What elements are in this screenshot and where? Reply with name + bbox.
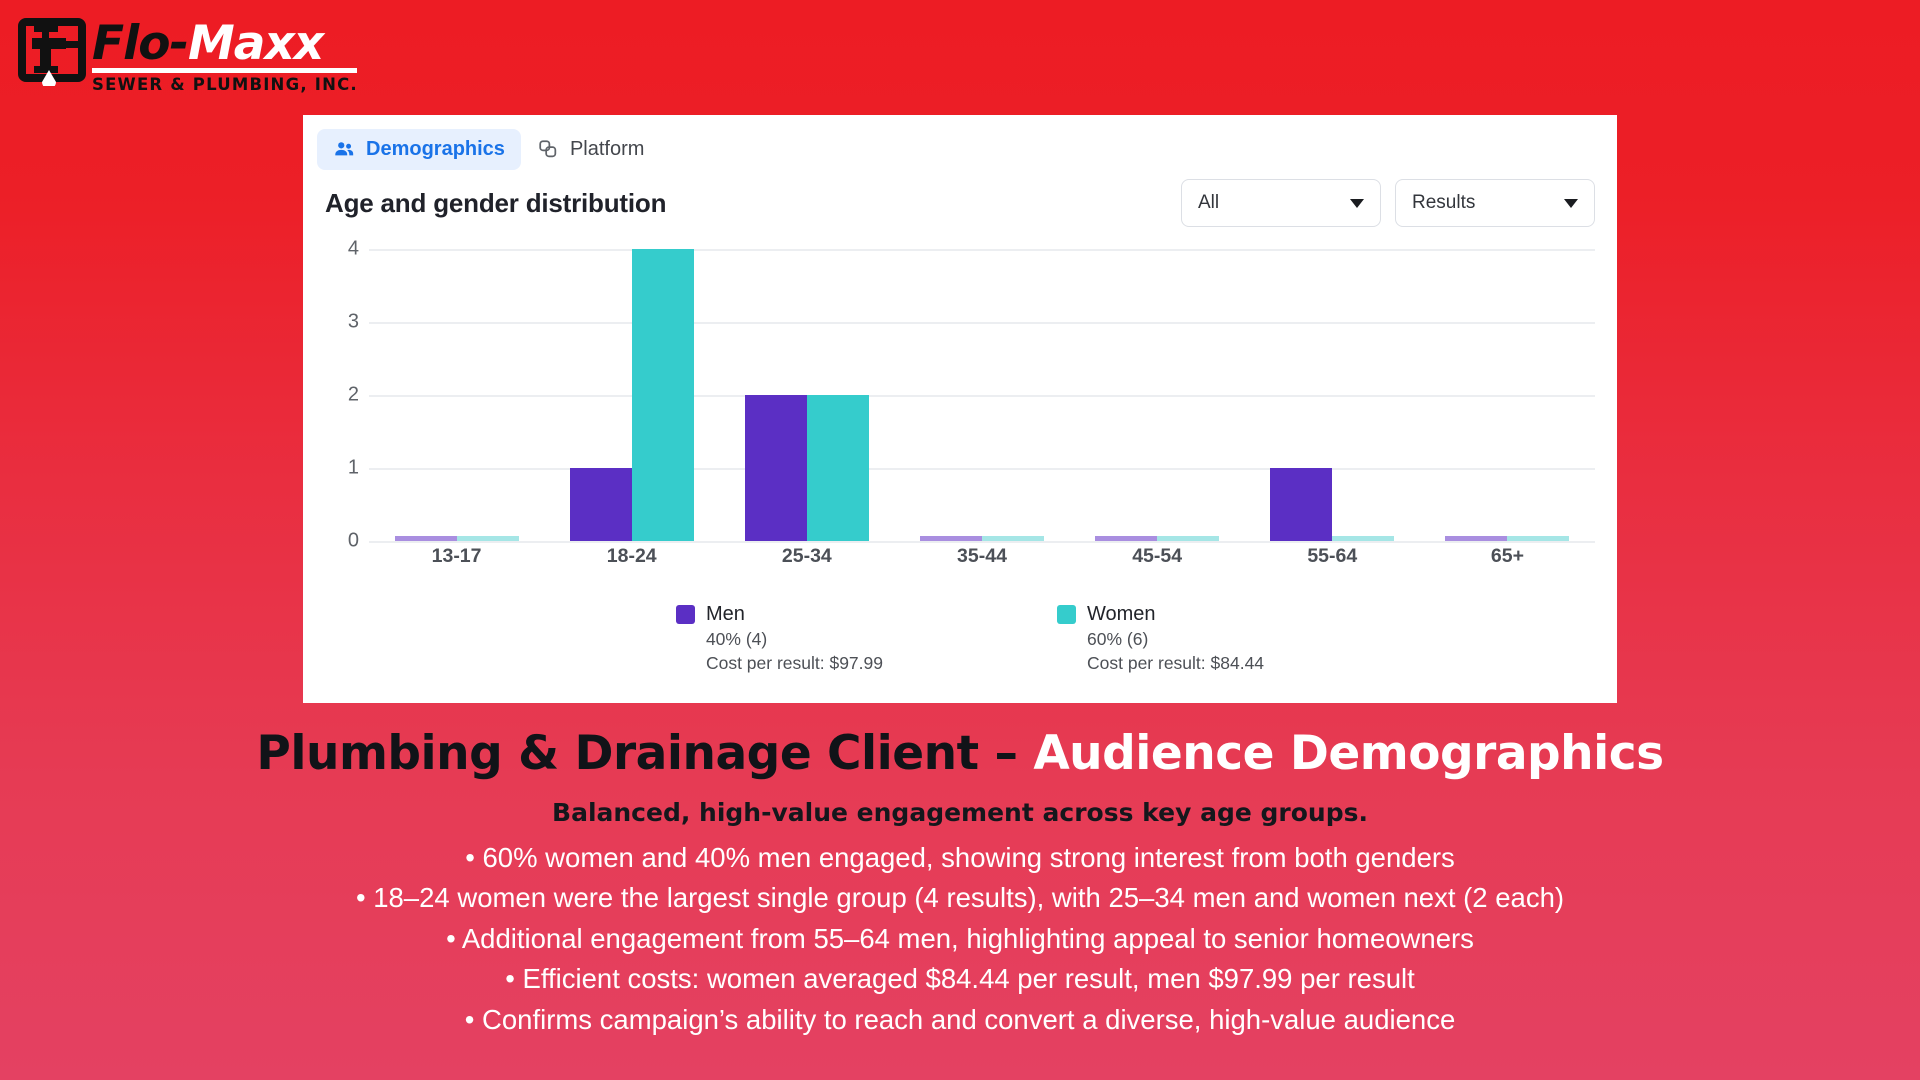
chevron-down-icon xyxy=(1350,199,1364,208)
breakdown-filter-dropdown[interactable]: All xyxy=(1181,179,1381,227)
bar-group xyxy=(544,249,719,541)
legend-swatch xyxy=(676,605,695,624)
page-subtitle: Balanced, high-value engagement across k… xyxy=(0,798,1920,827)
bar-women-55-64[interactable] xyxy=(1332,536,1394,541)
demographics-card: Demographics Platform Age and gender dis… xyxy=(303,115,1617,703)
x-axis-tick: 35-44 xyxy=(894,545,1069,568)
y-axis-tick: 2 xyxy=(348,384,359,407)
bar-group xyxy=(1245,249,1420,541)
page-title-accent: Audience Demographics xyxy=(1033,726,1663,781)
tab-platform-label: Platform xyxy=(570,138,644,161)
chart-legend: Men40% (4)Cost per result: $97.99Women60… xyxy=(303,601,1617,675)
bullet-item: • 18–24 women were the largest single gr… xyxy=(0,878,1920,918)
tab-demographics[interactable]: Demographics xyxy=(317,129,521,170)
chart-title: Age and gender distribution xyxy=(325,188,666,219)
legend-text: Men40% (4)Cost per result: $97.99 xyxy=(706,601,883,675)
y-axis-tick: 0 xyxy=(348,530,359,553)
x-axis-tick: 55-64 xyxy=(1245,545,1420,568)
bar-chart-plot: 01234 13-1718-2425-3435-4445-5455-6465+ xyxy=(325,249,1595,579)
legend-cost-per-result: Cost per result: $97.99 xyxy=(706,652,883,676)
bar-men-45-54[interactable] xyxy=(1095,536,1157,541)
x-axis-tick: 65+ xyxy=(1420,545,1595,568)
chart-controls: All Results xyxy=(1181,179,1595,227)
bar-group xyxy=(369,249,544,541)
page-title: Plumbing & Drainage Client – Audience De… xyxy=(0,726,1920,781)
bar-women-65+[interactable] xyxy=(1507,536,1569,541)
x-axis-labels: 13-1718-2425-3435-4445-5455-6465+ xyxy=(369,545,1595,568)
tab-bar: Demographics Platform xyxy=(303,115,1617,171)
brand-tagline: SEWER & PLUMBING, INC. xyxy=(92,75,358,94)
legend-series-name: Men xyxy=(706,601,883,628)
bar-women-13-17[interactable] xyxy=(457,536,519,541)
bar-women-45-54[interactable] xyxy=(1157,536,1219,541)
legend-text: Women60% (6)Cost per result: $84.44 xyxy=(1087,601,1264,675)
bar-men-18-24[interactable] xyxy=(570,468,632,541)
faucet-pipe-droplet-icon xyxy=(18,14,86,86)
bar-men-65+[interactable] xyxy=(1445,536,1507,541)
legend-item-men[interactable]: Men40% (4)Cost per result: $97.99 xyxy=(676,601,883,675)
bar-women-18-24[interactable] xyxy=(632,249,694,541)
bar-men-35-44[interactable] xyxy=(920,536,982,541)
bar-women-25-34[interactable] xyxy=(807,395,869,541)
bar-women-35-44[interactable] xyxy=(982,536,1044,541)
bar-men-25-34[interactable] xyxy=(745,395,807,541)
brand-logo: Flo-Maxx SEWER & PLUMBING, INC. xyxy=(18,14,358,94)
legend-swatch xyxy=(1057,605,1076,624)
y-axis-tick: 4 xyxy=(348,238,359,261)
chart-header: Age and gender distribution All Results xyxy=(303,171,1617,227)
bullet-item: • 60% women and 40% men engaged, showing… xyxy=(0,838,1920,878)
breakdown-filter-value: All xyxy=(1198,192,1219,214)
y-axis-tick: 3 xyxy=(348,311,359,334)
bar-group xyxy=(1420,249,1595,541)
bullet-item: • Efficient costs: women averaged $84.44… xyxy=(0,959,1920,999)
y-axis-tick: 1 xyxy=(348,457,359,480)
legend-item-women[interactable]: Women60% (6)Cost per result: $84.44 xyxy=(1057,601,1264,675)
bullet-item: • Confirms campaign’s ability to reach a… xyxy=(0,1000,1920,1040)
metric-filter-dropdown[interactable]: Results xyxy=(1395,179,1595,227)
x-axis-tick: 13-17 xyxy=(369,545,544,568)
legend-share: 40% (4) xyxy=(706,628,883,652)
bar-group xyxy=(719,249,894,541)
overlapping-squares-icon xyxy=(537,138,559,160)
x-axis-tick: 18-24 xyxy=(544,545,719,568)
y-axis: 01234 xyxy=(325,249,369,541)
tab-demographics-label: Demographics xyxy=(366,138,505,161)
chevron-down-icon xyxy=(1564,199,1578,208)
bullet-list: • 60% women and 40% men engaged, showing… xyxy=(0,838,1920,1040)
x-axis-tick: 25-34 xyxy=(719,545,894,568)
bar-group xyxy=(1070,249,1245,541)
metric-filter-value: Results xyxy=(1412,192,1475,214)
legend-cost-per-result: Cost per result: $84.44 xyxy=(1087,652,1264,676)
bar-men-13-17[interactable] xyxy=(395,536,457,541)
x-axis-tick: 45-54 xyxy=(1070,545,1245,568)
bar-groups xyxy=(369,249,1595,541)
legend-share: 60% (6) xyxy=(1087,628,1264,652)
gridline xyxy=(369,541,1595,543)
people-icon xyxy=(333,138,355,160)
legend-series-name: Women xyxy=(1087,601,1264,628)
bar-group xyxy=(894,249,1069,541)
tab-platform[interactable]: Platform xyxy=(521,129,660,170)
bullet-item: • Additional engagement from 55–64 men, … xyxy=(0,919,1920,959)
page-title-primary: Plumbing & Drainage Client – xyxy=(256,726,1033,781)
brand-name-part2: Maxx xyxy=(188,16,323,71)
bar-men-55-64[interactable] xyxy=(1270,468,1332,541)
brand-name-part1: Flo- xyxy=(92,16,188,71)
brand-wordmark: Flo-Maxx SEWER & PLUMBING, INC. xyxy=(92,14,358,94)
